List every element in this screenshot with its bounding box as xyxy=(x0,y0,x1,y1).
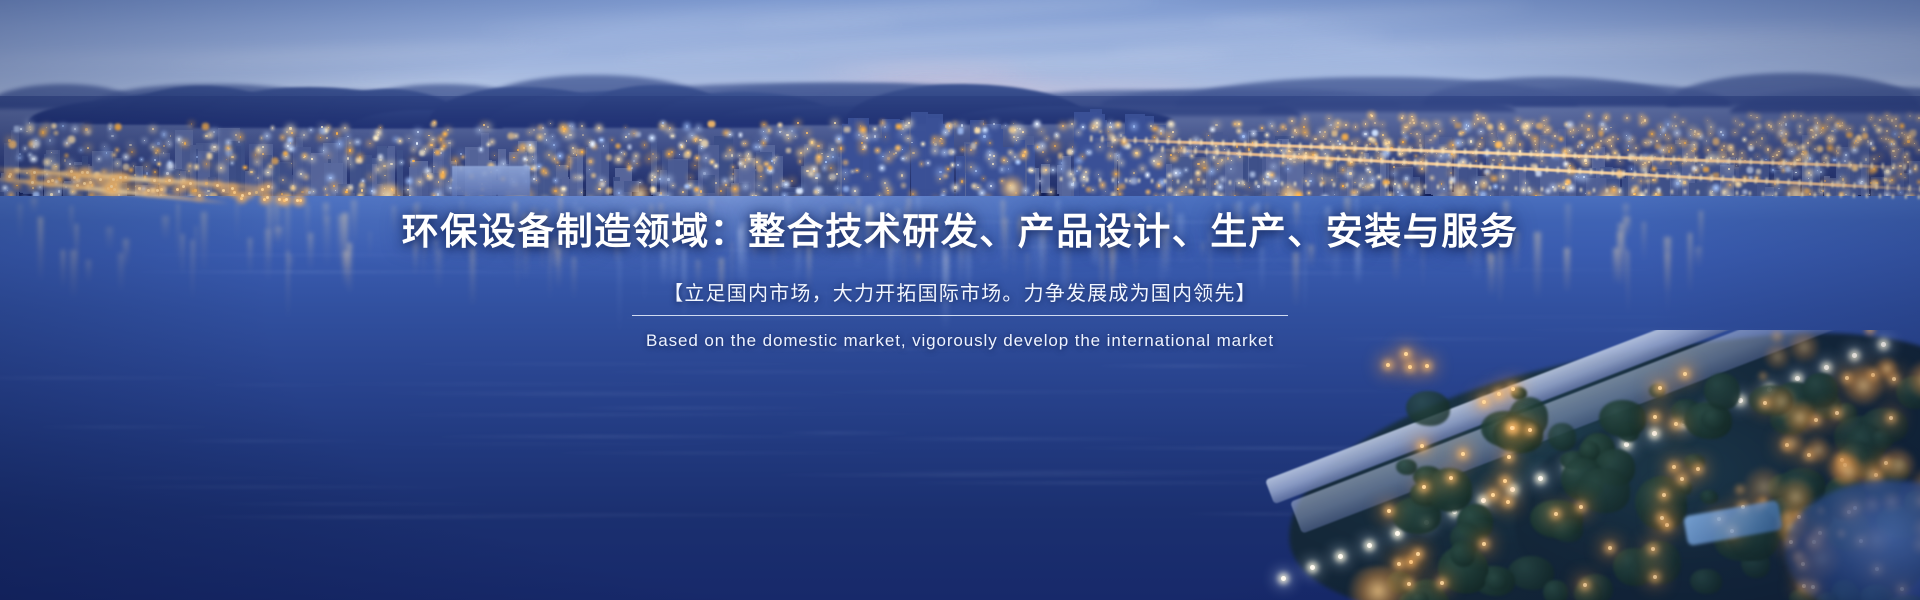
city-light xyxy=(912,193,914,195)
city-light xyxy=(1729,184,1731,186)
city-light xyxy=(1054,145,1056,147)
city-light xyxy=(29,122,31,124)
city-light xyxy=(715,182,716,183)
light-reflection xyxy=(1534,232,1541,300)
city-light xyxy=(1203,167,1205,169)
distant-city-light xyxy=(1439,130,1441,132)
city-light xyxy=(289,139,291,141)
water-ripple xyxy=(708,348,1063,350)
city-light xyxy=(35,142,38,145)
city-light xyxy=(1410,133,1412,135)
city-light xyxy=(154,159,156,161)
distant-city-light xyxy=(1914,143,1915,144)
light-reflection xyxy=(70,206,73,241)
city-light xyxy=(269,165,271,167)
light-reflection xyxy=(470,247,476,308)
city-light xyxy=(1601,123,1604,126)
light-reflection xyxy=(162,216,169,241)
city-light xyxy=(1373,140,1374,141)
city-light xyxy=(1285,128,1287,130)
city-light xyxy=(768,129,770,131)
city-light xyxy=(1150,125,1152,127)
building xyxy=(444,144,450,204)
city-light xyxy=(58,190,61,193)
city-light xyxy=(142,188,144,190)
city-light xyxy=(390,163,392,165)
city-light xyxy=(598,188,600,190)
city-light xyxy=(258,149,259,150)
city-light xyxy=(1810,174,1812,176)
light-reflection xyxy=(285,204,290,269)
city-light xyxy=(1651,133,1653,135)
city-light xyxy=(1569,124,1571,126)
water-ripple xyxy=(595,249,1035,251)
city-light xyxy=(983,178,984,179)
distant-city-light xyxy=(1807,142,1809,144)
city-light xyxy=(776,186,778,188)
city-light xyxy=(444,133,446,135)
city-light xyxy=(87,131,89,133)
city-light xyxy=(206,163,207,164)
light-reflection xyxy=(531,208,537,238)
light-reflection xyxy=(917,197,920,228)
city-light xyxy=(1894,133,1896,135)
city-light xyxy=(169,165,172,168)
city-light xyxy=(1227,157,1229,159)
city-light xyxy=(559,165,560,166)
city-light xyxy=(523,147,525,149)
city-light xyxy=(628,133,630,135)
hero-banner: 环保设备制造领域：整合技术研发、产品设计、生产、安装与服务 【立足国内市场，大力… xyxy=(0,0,1920,600)
distant-city-light xyxy=(1698,133,1700,135)
light-reflection xyxy=(545,210,547,247)
city-light xyxy=(563,128,565,130)
light-reflection xyxy=(503,227,507,246)
city-light xyxy=(1831,130,1833,132)
city-light xyxy=(213,147,215,149)
city-light xyxy=(695,140,696,141)
sunset-cloud xyxy=(865,71,1046,82)
light-reflection xyxy=(324,216,330,269)
city-light xyxy=(617,158,619,160)
park-tree xyxy=(1548,423,1576,452)
light-reflection xyxy=(753,242,756,261)
light-reflection xyxy=(1304,242,1306,315)
city-light xyxy=(325,188,326,189)
city-light xyxy=(1078,132,1079,133)
city-light xyxy=(973,185,975,187)
light-reflection xyxy=(38,217,44,282)
distant-city-light xyxy=(1371,115,1372,116)
city-light xyxy=(250,171,252,173)
city-light xyxy=(858,134,860,136)
city-light xyxy=(568,156,570,158)
city-light xyxy=(328,127,329,128)
light-reflection xyxy=(966,214,970,241)
city-light xyxy=(653,190,655,192)
city-light xyxy=(1364,133,1366,135)
city-light xyxy=(945,125,948,128)
city-light xyxy=(1007,161,1008,162)
city-light xyxy=(244,167,245,168)
city-light xyxy=(1821,190,1822,191)
park-lamp xyxy=(1696,467,1700,471)
light-reflection xyxy=(976,229,979,260)
light-reflection xyxy=(201,212,207,273)
water-ripple xyxy=(391,414,784,416)
shoreline-glow xyxy=(1781,399,1818,436)
city-light xyxy=(1909,170,1911,172)
light-reflection xyxy=(1293,252,1299,308)
city-light xyxy=(1795,172,1796,173)
light-reflection xyxy=(70,250,77,299)
city-light xyxy=(157,150,158,151)
city-light xyxy=(510,135,512,137)
city-light xyxy=(1172,131,1174,133)
light-reflection xyxy=(1294,202,1299,232)
city-light xyxy=(821,153,822,154)
city-light xyxy=(1261,127,1263,129)
water-ripple xyxy=(655,317,942,319)
water-ripple xyxy=(105,254,579,256)
distant-city-light xyxy=(1474,123,1476,125)
water-ripple xyxy=(573,292,1071,294)
city-light xyxy=(572,126,573,127)
city-light xyxy=(1125,145,1126,146)
distant-city-light xyxy=(1860,139,1861,140)
city-light xyxy=(1706,140,1707,141)
city-light xyxy=(417,131,419,133)
building xyxy=(263,155,271,198)
city-light xyxy=(184,142,186,144)
city-light xyxy=(575,177,576,178)
city-light xyxy=(26,131,28,133)
distant-city-light xyxy=(1644,142,1645,143)
light-reflection xyxy=(682,248,686,319)
city-light xyxy=(1462,142,1463,143)
distant-city-light xyxy=(1667,147,1668,148)
city-light xyxy=(1072,151,1073,152)
city-light xyxy=(1900,173,1902,175)
city-light xyxy=(1694,148,1696,150)
distant-city-light xyxy=(1831,117,1832,118)
city-light xyxy=(845,172,846,173)
city-light xyxy=(1337,140,1339,142)
city-light xyxy=(582,134,584,136)
city-light xyxy=(421,152,422,153)
water-ripple xyxy=(198,384,361,386)
light-reflection xyxy=(1503,237,1506,297)
building xyxy=(703,175,715,193)
city-light xyxy=(66,142,68,144)
street-lamp xyxy=(110,185,113,188)
city-light xyxy=(830,167,832,169)
city-light xyxy=(1111,146,1113,148)
city-light xyxy=(608,156,610,158)
city-light xyxy=(731,178,732,179)
city-light xyxy=(169,162,171,164)
light-reflection xyxy=(911,218,913,279)
light-reflection xyxy=(424,227,427,261)
city-light xyxy=(447,129,449,131)
city-light xyxy=(1096,122,1098,124)
water-ripple xyxy=(182,516,634,518)
distant-city-light xyxy=(1293,161,1295,163)
city-light xyxy=(1043,169,1045,171)
promenade-lamp xyxy=(1281,576,1286,581)
light-reflection xyxy=(1513,232,1519,274)
park-tree xyxy=(1599,400,1647,437)
light-reflection xyxy=(1487,251,1493,269)
distant-city-light xyxy=(1429,139,1431,141)
light-reflection xyxy=(917,253,920,275)
city-light xyxy=(238,141,240,143)
city-light xyxy=(1121,162,1122,163)
light-reflection xyxy=(564,231,567,268)
city-light xyxy=(1421,168,1423,170)
park-tree xyxy=(1574,581,1602,600)
city-light xyxy=(1160,132,1162,134)
city-light xyxy=(529,144,531,146)
water-ripple xyxy=(1224,272,1413,274)
city-light xyxy=(281,193,283,195)
city-light xyxy=(178,138,180,140)
city-light xyxy=(1324,131,1326,133)
city-light xyxy=(874,135,877,138)
light-reflection xyxy=(1473,225,1481,282)
city-light xyxy=(608,190,609,191)
city-light xyxy=(864,135,865,136)
city-light xyxy=(530,149,532,151)
city-light xyxy=(361,189,363,191)
water-ripple xyxy=(1431,269,1694,271)
distant-city-light xyxy=(1837,152,1839,154)
distant-city-light xyxy=(1752,131,1754,133)
city-light xyxy=(648,158,650,160)
water-ripple xyxy=(1091,259,1485,261)
shoreline-glow xyxy=(1787,330,1821,364)
city-light xyxy=(1583,176,1585,178)
light-reflection xyxy=(798,237,801,277)
city-light xyxy=(1117,188,1119,190)
city-light xyxy=(1513,157,1515,159)
street-lamp xyxy=(73,176,76,179)
distant-city-light xyxy=(1682,121,1684,123)
city-light xyxy=(954,186,957,189)
city-light xyxy=(962,149,963,150)
distant-city-light xyxy=(1644,162,1646,164)
city-light xyxy=(109,128,111,130)
distant-city-light xyxy=(1641,122,1642,123)
city-light xyxy=(1470,140,1472,142)
city-light xyxy=(19,153,21,155)
city-light xyxy=(667,178,670,181)
city-light xyxy=(336,132,339,135)
distant-city-light xyxy=(1546,129,1548,131)
city-light xyxy=(350,164,351,165)
distant-city-light xyxy=(1672,125,1673,126)
city-light xyxy=(1431,177,1433,179)
park-lamp xyxy=(1662,493,1666,497)
park-lamp xyxy=(1658,386,1662,390)
distant-city-light xyxy=(1827,126,1828,127)
tower xyxy=(927,118,940,203)
light-reflection xyxy=(236,202,239,245)
distant-city-light xyxy=(1525,128,1527,130)
light-reflection xyxy=(31,198,38,212)
city-light xyxy=(837,139,839,141)
city-light xyxy=(1426,125,1428,127)
city-light xyxy=(947,168,949,170)
city-light xyxy=(1092,189,1094,191)
city-light xyxy=(1683,181,1686,184)
city-light xyxy=(884,182,886,184)
city-light xyxy=(769,169,772,172)
city-light xyxy=(651,137,653,139)
city-light xyxy=(1758,171,1759,172)
city-light xyxy=(401,162,402,163)
shoreline-glow xyxy=(1804,436,1832,464)
park-tree xyxy=(1684,454,1705,469)
light-reflection xyxy=(661,249,667,286)
city-light xyxy=(939,171,941,173)
city-light xyxy=(864,146,865,147)
light-reflection xyxy=(1642,222,1646,262)
water-ripple xyxy=(588,371,982,373)
city-light xyxy=(157,142,160,145)
city-light xyxy=(1842,178,1844,180)
city-light xyxy=(1560,138,1562,140)
city-light xyxy=(672,185,673,186)
city-light xyxy=(1808,172,1809,173)
light-reflection xyxy=(1266,204,1269,236)
city-light xyxy=(725,155,727,157)
city-light xyxy=(1362,178,1363,179)
city-light xyxy=(908,122,910,124)
city-light xyxy=(831,176,833,178)
city-light xyxy=(836,173,838,175)
park-tree xyxy=(1704,373,1740,410)
city-light xyxy=(1039,180,1041,182)
city-light xyxy=(74,128,76,130)
distant-city-light xyxy=(1365,163,1367,165)
city-light xyxy=(1336,126,1338,128)
distant-city-light xyxy=(1482,117,1484,119)
light-reflection xyxy=(1618,223,1624,288)
light-reflection xyxy=(785,196,790,250)
light-reflection xyxy=(106,227,112,251)
distant-city-light xyxy=(1554,135,1556,137)
city-light xyxy=(834,122,836,124)
city-light xyxy=(1791,151,1792,152)
park-tree xyxy=(1649,384,1665,398)
city-light xyxy=(80,149,82,151)
park-lamp xyxy=(1386,363,1390,367)
distant-city-light xyxy=(1296,132,1297,133)
city-light xyxy=(779,124,781,126)
light-reflection xyxy=(1275,210,1282,257)
city-light xyxy=(441,148,443,150)
park-tree xyxy=(1871,430,1893,449)
city-light xyxy=(1133,125,1136,128)
water-ripple xyxy=(384,363,845,365)
city-light xyxy=(1715,187,1717,189)
distant-city-light xyxy=(1577,145,1579,147)
city-light xyxy=(682,191,684,193)
city-light xyxy=(1369,138,1372,141)
street-lamp xyxy=(216,184,219,187)
city-light xyxy=(503,163,504,164)
city-light xyxy=(345,191,348,194)
tower xyxy=(1128,118,1141,206)
city-light xyxy=(1653,168,1655,170)
city-light xyxy=(698,127,699,128)
distant-city-light xyxy=(1867,140,1869,142)
light-reflection xyxy=(932,225,936,311)
park-lamp xyxy=(1511,387,1515,391)
city-light xyxy=(1071,183,1074,186)
landmark-building xyxy=(452,166,530,196)
light-reflection xyxy=(1627,251,1629,316)
distant-city-light xyxy=(1374,122,1376,124)
park-tree xyxy=(1543,580,1567,600)
city-light xyxy=(1170,154,1172,156)
distant-city-light xyxy=(1814,117,1816,119)
city-light xyxy=(1160,156,1161,157)
tower xyxy=(842,124,855,205)
city-light xyxy=(1273,166,1274,167)
city-light xyxy=(24,147,26,149)
city-light xyxy=(744,165,746,167)
city-light xyxy=(1898,136,1900,138)
city-light xyxy=(1062,125,1064,127)
city-light xyxy=(701,148,702,149)
city-light xyxy=(1728,168,1730,170)
light-reflection xyxy=(18,204,22,242)
city-light xyxy=(141,159,142,160)
distant-city-light xyxy=(1892,150,1894,152)
park-lamp xyxy=(1408,365,1412,369)
city-light xyxy=(1141,167,1144,170)
park-tree xyxy=(1426,468,1473,512)
street-lamp xyxy=(168,179,171,182)
city-light xyxy=(806,170,808,172)
city-light xyxy=(158,163,160,165)
distant-city-light xyxy=(1304,118,1306,120)
light-reflection xyxy=(1247,225,1251,252)
city-light xyxy=(1158,184,1161,187)
city-light xyxy=(654,176,656,178)
light-reflection xyxy=(670,214,677,291)
city-light xyxy=(191,123,192,124)
city-light xyxy=(881,167,883,169)
city-light xyxy=(1901,125,1903,127)
city-light xyxy=(1117,124,1119,126)
city-light xyxy=(87,147,89,149)
city-light xyxy=(1822,127,1823,128)
city-light xyxy=(1878,129,1880,131)
water-ripple xyxy=(122,271,589,273)
distant-city-light xyxy=(1895,118,1897,120)
distant-city-light xyxy=(1828,137,1830,139)
city-light xyxy=(1115,173,1117,175)
city-light xyxy=(831,148,833,150)
city-light xyxy=(257,177,259,179)
park-tree xyxy=(1636,541,1680,584)
city-light xyxy=(686,140,688,142)
city-light xyxy=(1169,175,1170,176)
light-reflection xyxy=(1565,204,1571,257)
